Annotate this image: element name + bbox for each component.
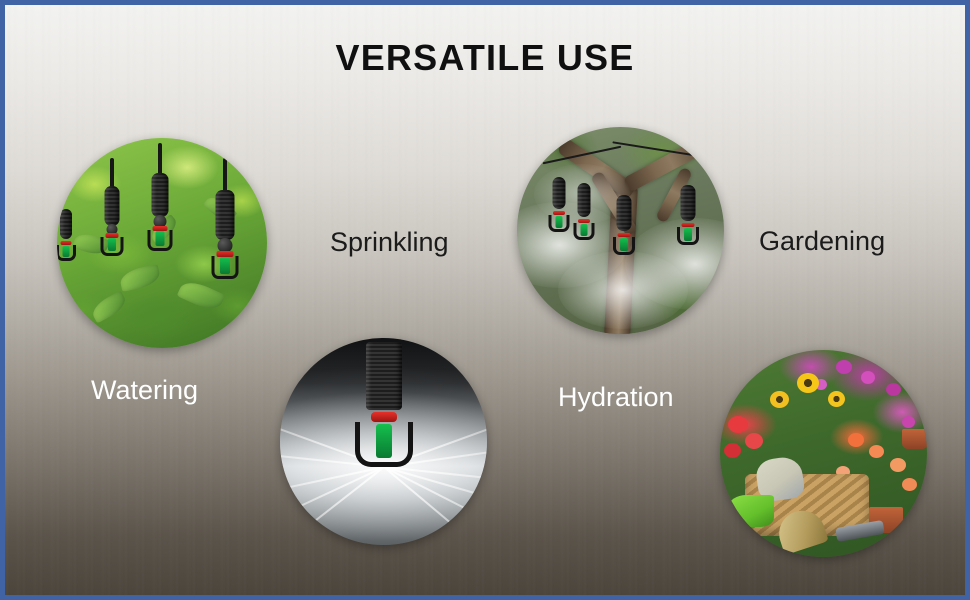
sprinkler-green-nozzle — [108, 238, 116, 251]
sprinkler-green-nozzle — [156, 231, 165, 246]
sprinkler-filter-body — [104, 186, 119, 226]
sprinkler-filter-body — [552, 177, 565, 209]
flower-shape — [848, 433, 864, 447]
sprinkler-head — [610, 195, 638, 271]
feature-label-gardening: Gardening — [759, 226, 885, 257]
feature-image-watering — [57, 138, 267, 348]
sprinklers-on-tree-branches-photo — [517, 127, 724, 334]
sprinkler-filter-body — [681, 185, 696, 221]
sprinkler-head — [362, 342, 406, 472]
sprinkler-filter-body — [60, 209, 72, 239]
flower-shape — [886, 383, 901, 396]
flower-shape — [861, 371, 875, 384]
sprinkler-green-nozzle — [62, 246, 69, 257]
flower-shape — [797, 373, 819, 393]
sprinkler-head — [546, 177, 572, 247]
flower-shape — [828, 391, 845, 407]
flower-shape — [745, 433, 763, 449]
sprinkler-head — [57, 209, 79, 279]
feature-label-hydration: Hydration — [558, 382, 674, 413]
sprinkler-hose — [110, 158, 114, 188]
versatile-use-banner: VERSATILE USE — [0, 0, 970, 600]
feature-image-gardening — [720, 350, 927, 557]
sprinkler-green-nozzle — [555, 216, 562, 228]
sprinkler-green-nozzle — [684, 228, 692, 241]
sprinkler-filter-body — [216, 190, 235, 240]
sprinkler-green-nozzle — [376, 424, 392, 458]
sprinkler-green-nozzle — [620, 238, 628, 251]
feature-label-watering: Watering — [91, 375, 198, 406]
feature-image-sprinkling — [280, 338, 487, 545]
sprinklers-over-green-hedge-photo — [57, 138, 267, 348]
sprinkler-green-nozzle — [220, 257, 230, 274]
flower-shape — [770, 391, 789, 408]
sprinkler-hose — [158, 143, 162, 175]
feature-label-sprinkling: Sprinkling — [330, 227, 449, 258]
flower-pot — [902, 429, 927, 449]
garden-flowers-basket-photo — [720, 350, 927, 557]
sprinkler-closeup-spraying-photo — [280, 338, 487, 545]
sprinkler-filter-body — [152, 173, 169, 217]
watering-can — [728, 495, 774, 527]
sprinkler-filter-body — [617, 195, 632, 231]
sprinkler-head — [141, 155, 179, 251]
flower-shape — [890, 458, 906, 472]
sprinkler-head — [204, 180, 246, 290]
sprinkler-head — [674, 185, 702, 261]
page-title: VERSATILE USE — [5, 37, 965, 79]
sprinkler-hose — [223, 158, 227, 192]
sprinkler-head — [95, 176, 129, 262]
feature-image-hydration — [517, 127, 724, 334]
sprinkler-red-collar — [371, 412, 397, 422]
sprinkler-green-nozzle — [580, 224, 587, 236]
sprinkler-filter-body — [577, 183, 590, 217]
sprinkler-head — [571, 183, 597, 255]
sprinkler-filter-body — [366, 342, 402, 410]
